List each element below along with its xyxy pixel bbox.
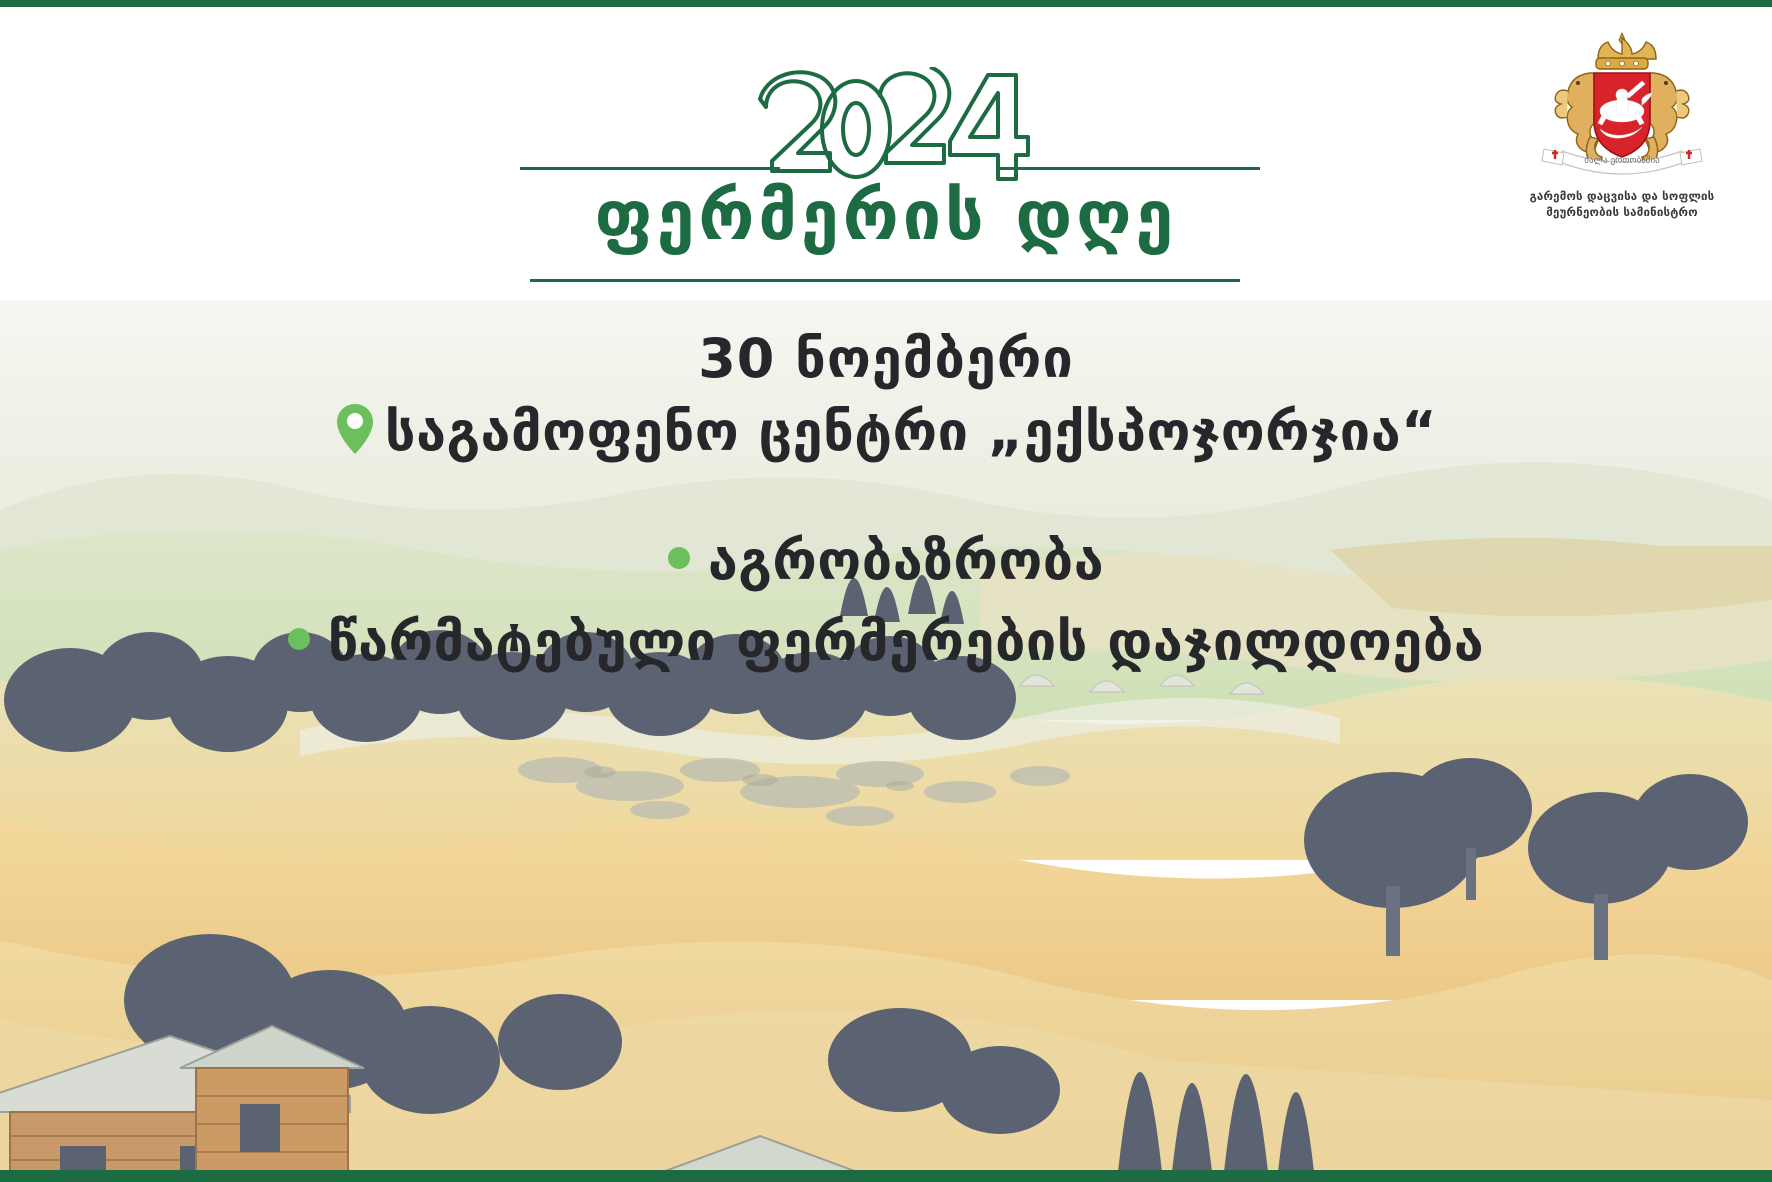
event-details: 30 ნოემბერი საგამოფენო ცენტრი „ექსპოჯორჯ… [0,330,1772,682]
ministry-name-line2: მეურნეობის სამინისტრო [1502,205,1742,221]
event-location-row: საგამოფენო ცენტრი „ექსპოჯორჯია“ [0,402,1772,467]
bullet-dot-icon [668,547,690,569]
map-pin-icon [335,402,375,467]
georgia-coat-of-arms-icon: ძალა ერთობაშია [1534,25,1710,185]
event-location-text: საგამოფენო ცენტრი „ექსპოჯორჯია“ [385,400,1437,463]
bullet-item: წარმატებული ფერმერების დაჯილდოება [0,601,1772,682]
top-green-rule [0,0,1772,7]
year-2024-logo [752,67,1032,187]
title-underline [530,279,1240,282]
coa-motto-text: ძალა ერთობაშია [1584,155,1660,166]
poster-root: ფერმერის დღე [0,0,1772,1182]
year-lockup [520,67,1260,187]
poster-header: ფერმერის დღე [0,7,1772,300]
event-date: 30 ნოემბერი [0,330,1772,388]
event-bullets: აგრობაზრობა წარმატებული ფერმერების დაჯილ… [0,520,1772,682]
ministry-name: გარემოს დაცვისა და სოფლის მეურნეობის სამ… [1502,189,1742,220]
header-rule-left [520,167,780,170]
bottom-green-rule [0,1170,1772,1182]
bullet-dot-icon [288,628,310,650]
bullet-label: წარმატებული ფერმერების დაჯილდოება [328,610,1484,673]
ministry-name-line1: გარემოს დაცვისა და სოფლის [1502,189,1742,205]
header-rule-right [1000,167,1260,170]
bullet-label: აგრობაზრობა [708,529,1104,592]
bullet-item: აგრობაზრობა [0,520,1772,601]
ministry-logo-block: ძალა ერთობაშია გარემოს დაცვისა და სოფლის… [1502,25,1742,250]
